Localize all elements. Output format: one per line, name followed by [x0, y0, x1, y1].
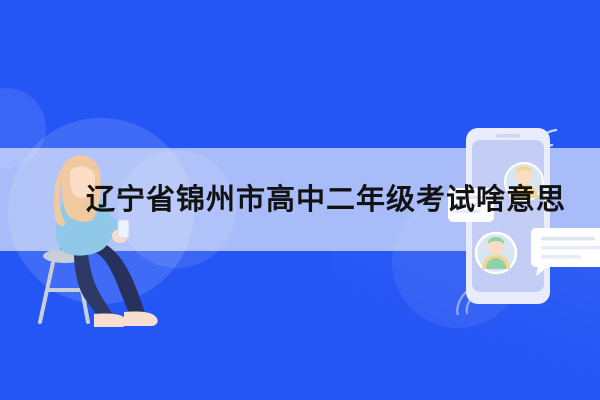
headline-container: 辽宁省锦州市高中二年级考试啥意思	[0, 148, 600, 251]
phone-speaker	[496, 134, 520, 138]
bubble-line-3	[541, 255, 581, 258]
person-shoe-front	[124, 312, 158, 327]
person-shoe-back	[94, 314, 127, 328]
headline-text: 辽宁省锦州市高中二年级考试啥意思	[86, 185, 566, 214]
banner-image: 辽宁省锦州市高中二年级考试啥意思	[0, 0, 600, 400]
